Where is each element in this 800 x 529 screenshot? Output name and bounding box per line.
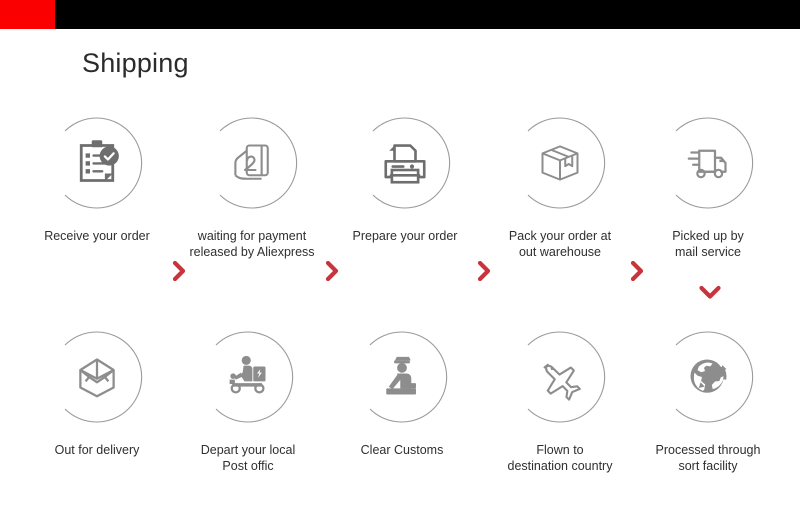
page-title: Shipping xyxy=(82,50,189,77)
step-label: Pack your order at out warehouse xyxy=(480,229,640,260)
chevron-down-icon xyxy=(698,280,722,304)
flow-row-2: Out for delivery xyxy=(0,319,800,499)
step-circle xyxy=(654,109,762,217)
step-circle xyxy=(506,109,614,217)
step-label: Picked up by mail service xyxy=(628,229,788,260)
delivery-truck-icon xyxy=(678,133,738,193)
open-box-icon xyxy=(67,347,127,407)
flow-step-out-for-delivery[interactable]: Out for delivery xyxy=(21,319,173,499)
step-label: Processed through sort facility xyxy=(628,443,788,474)
top-bar-accent-block xyxy=(0,0,55,29)
flow-step-receive-order[interactable]: Receive your order xyxy=(21,105,173,285)
clipboard-check-icon xyxy=(67,133,127,193)
top-bar xyxy=(0,0,800,29)
flow-step-processed-sort-facility[interactable]: Processed through sort facility xyxy=(632,319,784,499)
closed-box-icon xyxy=(530,133,590,193)
delivery-scooter-icon xyxy=(218,347,278,407)
shipping-infographic: Shipping xyxy=(0,0,800,529)
step-label: Out for delivery xyxy=(17,443,177,459)
step-circle xyxy=(43,109,151,217)
step-circle xyxy=(506,323,614,431)
flow-row-1: Receive your order xyxy=(0,105,800,285)
customs-officer-icon xyxy=(372,347,432,407)
printer-icon xyxy=(375,133,435,193)
step-circle xyxy=(351,109,459,217)
step-circle xyxy=(194,323,302,431)
airplane-icon xyxy=(530,347,590,407)
step-label: Receive your order xyxy=(17,229,177,245)
step-label: Flown to destination country xyxy=(480,443,640,474)
flow-step-pack-order[interactable]: Pack your order at out warehouse xyxy=(484,105,636,285)
flow-step-depart-post-office[interactable]: Depart your local Post offic xyxy=(172,319,324,499)
flow-step-flown-to-destination[interactable]: Flown to destination country xyxy=(484,319,636,499)
flow-step-prepare-order[interactable]: Prepare your order xyxy=(329,105,481,285)
step-circle xyxy=(654,323,762,431)
flow-step-waiting-payment[interactable]: waiting for payment released by Aliexpre… xyxy=(176,105,328,285)
hand-credit-card-icon xyxy=(222,133,282,193)
globe-arrows-icon xyxy=(678,347,738,407)
step-label: waiting for payment released by Aliexpre… xyxy=(172,229,332,260)
step-label: Depart your local Post offic xyxy=(168,443,328,474)
step-circle xyxy=(43,323,151,431)
step-label: Prepare your order xyxy=(325,229,485,245)
flow-step-picked-up[interactable]: Picked up by mail service xyxy=(632,105,784,285)
flow-step-clear-customs[interactable]: Clear Customs xyxy=(326,319,478,499)
step-circle xyxy=(198,109,306,217)
step-label: Clear Customs xyxy=(322,443,482,459)
step-circle xyxy=(348,323,456,431)
